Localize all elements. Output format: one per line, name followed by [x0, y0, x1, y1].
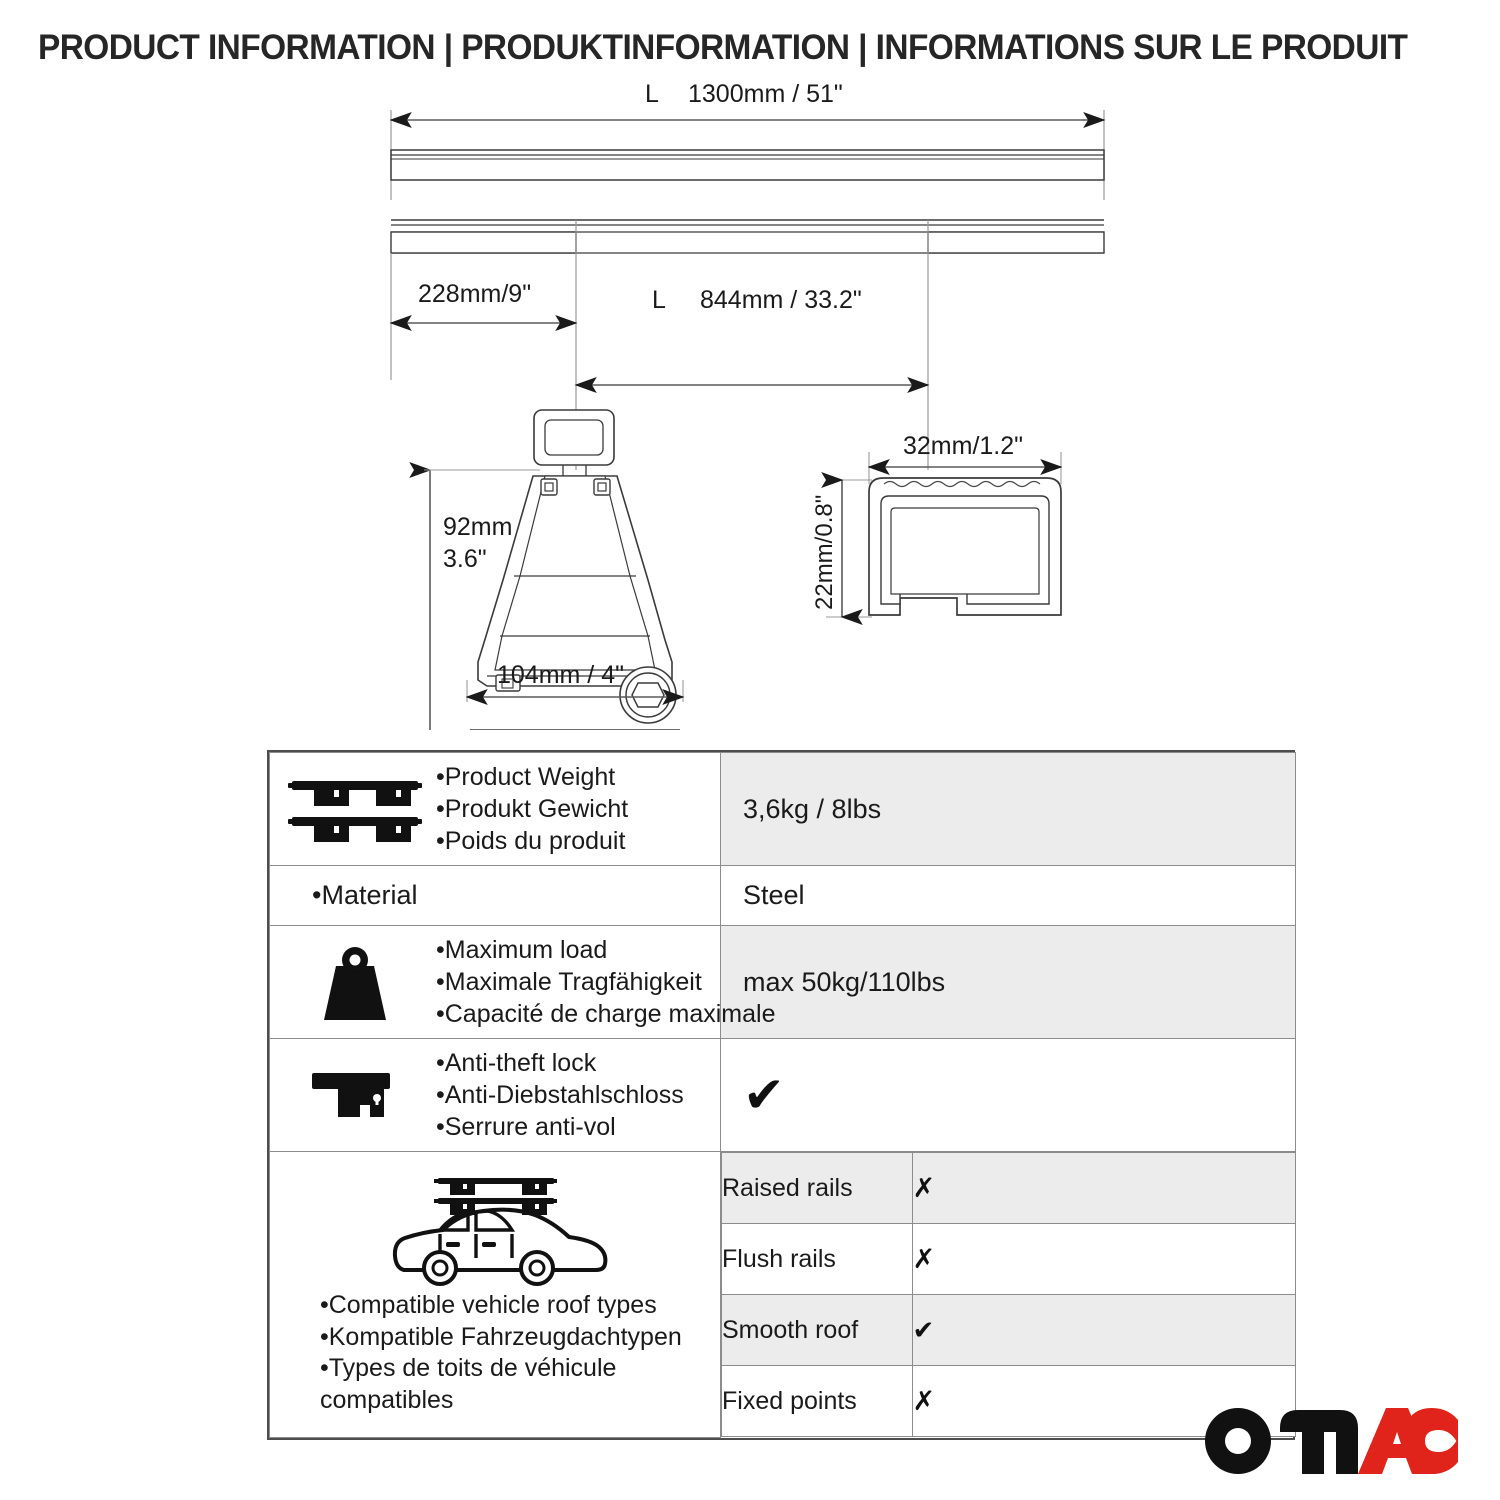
bar-length-dim-prefix: L: [645, 80, 659, 108]
lock-label-text: •Anti-theft lock •Anti-Diebstahlschloss …: [436, 1047, 684, 1143]
material-value-cell: Steel: [721, 866, 1296, 926]
foot-width-dim-value: 104mm / 4": [497, 661, 624, 689]
foot-height-in: 3.6": [443, 545, 487, 573]
crossbars-icon: [280, 771, 430, 847]
compat-label-en: •Compatible vehicle roof types: [320, 1290, 710, 1322]
profile-height-dim-value: 22mm/0.8": [811, 495, 838, 610]
compat-label-fr: •Types de toits de véhicule compatibles: [320, 1353, 710, 1416]
lock-icon: [280, 1059, 430, 1131]
roof-type-list-cell: Raised rails ✗ Flush rails ✗ Smooth roof…: [721, 1152, 1296, 1438]
foot-offset-dim: 228mm/9": [418, 280, 531, 308]
table-row: •Product Weight •Produkt Gewicht •Poids …: [270, 753, 1296, 866]
maxload-label-en: •Maximum load: [436, 934, 775, 966]
lock-label-de: •Anti-Diebstahlschloss: [436, 1079, 684, 1111]
material-label-en: •Material: [270, 866, 720, 925]
material-value: Steel: [721, 870, 1295, 921]
compat-label-de: •Kompatible Fahrzeugdachtypen: [320, 1322, 710, 1354]
lock-label-en: •Anti-theft lock: [436, 1047, 684, 1079]
weight-label-fr: •Poids du produit: [436, 825, 628, 857]
material-label-cell: •Material: [270, 866, 721, 926]
lock-label-fr: •Serrure anti-vol: [436, 1111, 684, 1143]
roof-type-name: Flush rails: [722, 1224, 913, 1295]
profile-cross-section: [869, 478, 1061, 615]
roof-type-mark: ✔: [913, 1315, 935, 1345]
weight-label-de: •Produkt Gewicht: [436, 793, 628, 825]
page-title: PRODUCT INFORMATION | PRODUKTINFORMATION…: [38, 28, 1404, 68]
roof-type-mark: ✗: [913, 1173, 936, 1203]
bar-top-view: [391, 110, 1104, 200]
maxload-value: max 50kg/110lbs: [721, 957, 1295, 1008]
roof-type-row-smooth-roof: Smooth roof ✔: [722, 1295, 1296, 1366]
roof-type-name: Fixed points: [722, 1366, 913, 1437]
compat-label-text: •Compatible vehicle roof types •Kompatib…: [280, 1290, 710, 1416]
omac-logo-mark: [1200, 1400, 1460, 1478]
roof-type-name: Raised rails: [722, 1153, 913, 1224]
maxload-value-cell: max 50kg/110lbs: [721, 926, 1296, 1039]
compat-label-cell: •Compatible vehicle roof types •Kompatib…: [270, 1152, 721, 1438]
maxload-label-fr: •Capacité de charge maximale: [436, 998, 775, 1030]
maxload-label-de: •Maximale Tragfähigkeit: [436, 966, 775, 998]
weight-value-cell: 3,6kg / 8lbs: [721, 753, 1296, 866]
lock-value-cell: ✔: [721, 1039, 1296, 1152]
weight-icon: [280, 940, 430, 1024]
table-row: •Material Steel: [270, 866, 1296, 926]
foot-height-mm: 92mm: [443, 513, 512, 541]
omac-logo: [1200, 1400, 1460, 1478]
weight-value: 3,6kg / 8lbs: [721, 784, 1295, 835]
specification-table: •Product Weight •Produkt Gewicht •Poids …: [267, 750, 1295, 1440]
roof-type-mark: ✗: [913, 1244, 936, 1274]
lock-checkmark: ✔: [721, 1060, 1295, 1130]
roof-type-mark: ✗: [913, 1386, 936, 1416]
lock-label-cell: •Anti-theft lock •Anti-Diebstahlschloss …: [270, 1039, 721, 1152]
table-row-compatibility: •Compatible vehicle roof types •Kompatib…: [270, 1152, 1296, 1438]
roof-type-row-raised-rails: Raised rails ✗: [722, 1153, 1296, 1224]
table-row: •Maximum load •Maximale Tragfähigkeit •C…: [270, 926, 1296, 1039]
weight-label-en: •Product Weight: [436, 761, 628, 793]
car-with-rack-icon: [280, 1166, 710, 1286]
table-row: •Anti-theft lock •Anti-Diebstahlschloss …: [270, 1039, 1296, 1152]
roof-type-table: Raised rails ✗ Flush rails ✗ Smooth roof…: [721, 1152, 1296, 1437]
maxload-label-text: •Maximum load •Maximale Tragfähigkeit •C…: [436, 934, 775, 1030]
bar-length-dim-value: 1300mm / 51": [688, 80, 843, 108]
span-dim-value: 844mm / 33.2": [700, 286, 862, 314]
roof-type-name: Smooth roof: [722, 1295, 913, 1366]
profile-width-dim-value: 32mm/1.2": [903, 432, 1023, 460]
weight-label-text: •Product Weight •Produkt Gewicht •Poids …: [436, 761, 628, 857]
maxload-label-cell: •Maximum load •Maximale Tragfähigkeit •C…: [270, 926, 721, 1039]
roof-type-row-flush-rails: Flush rails ✗: [722, 1224, 1296, 1295]
weight-label-cell: •Product Weight •Produkt Gewicht •Poids …: [270, 753, 721, 866]
technical-drawing: L 1300mm / 51" 228mm/9" L 844mm / 33.2": [0, 80, 1500, 730]
span-dim-prefix: L: [652, 286, 666, 314]
